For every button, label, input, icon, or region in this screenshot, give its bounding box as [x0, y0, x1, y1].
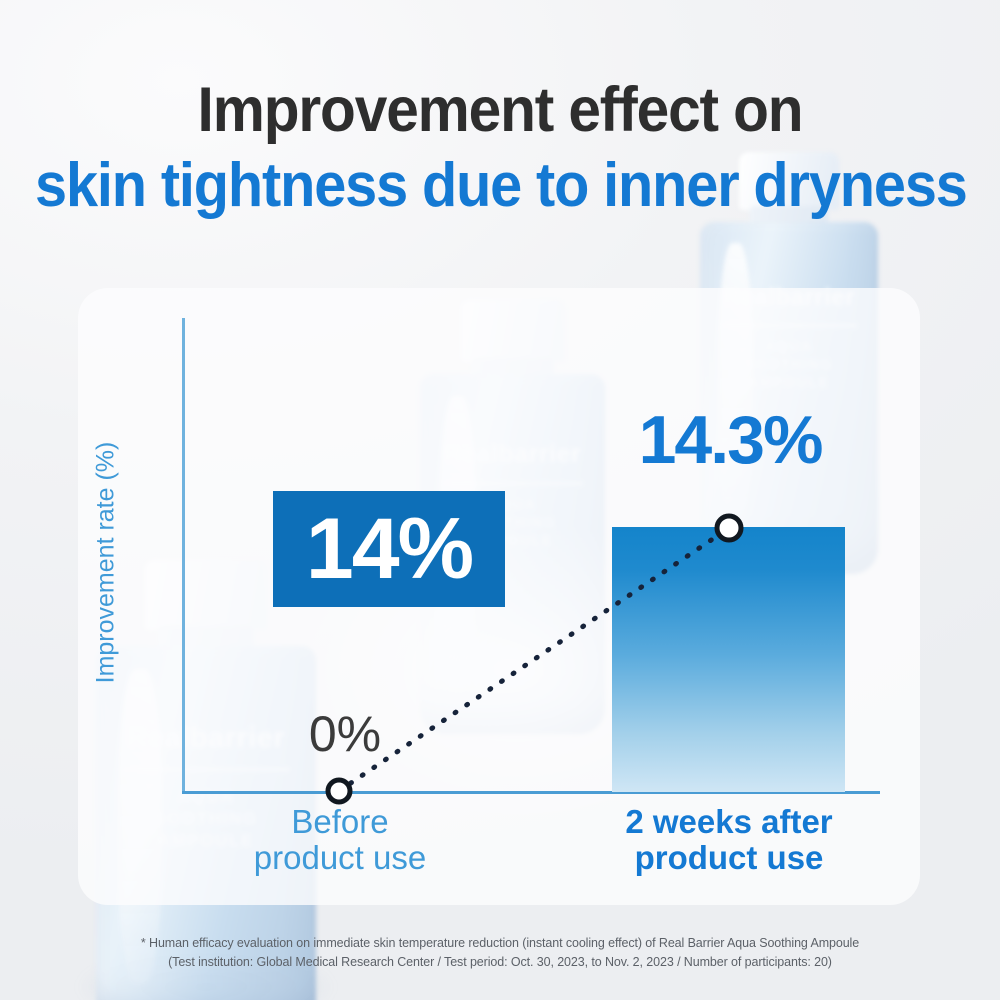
title-line-1: Improvement effect on: [35, 72, 965, 148]
marker-before-product-use[interactable]: [328, 780, 350, 802]
page-title: Improvement effect on skin tightness due…: [0, 72, 1000, 224]
x-tick-before-product-use: Before product use: [215, 804, 465, 876]
x-tick-2-weeks-after: 2 weeks after product use: [598, 804, 860, 876]
title-line-2: skin tightness due to inner dryness: [35, 148, 965, 224]
x-tick-after-line2: product use: [598, 840, 860, 876]
footnote: * Human efficacy evaluation on immediate…: [0, 934, 1000, 972]
value-label-before: 0%: [285, 708, 405, 760]
poster-canvas: Realbarrier AQUA SOOTHING AMPOULE Realba…: [0, 0, 1000, 1000]
marker-2-weeks-after[interactable]: [717, 516, 741, 540]
improvement-badge: 14%: [273, 491, 505, 607]
improvement-badge-value: 14%: [306, 506, 472, 592]
footnote-line-2: (Test institution: Global Medical Resear…: [0, 953, 1000, 972]
x-tick-after-line1: 2 weeks after: [598, 804, 860, 840]
x-tick-before-line2: product use: [215, 840, 465, 876]
footnote-line-1: * Human efficacy evaluation on immediate…: [0, 934, 1000, 953]
value-label-after: 14.3%: [600, 405, 860, 475]
x-tick-before-line1: Before: [215, 804, 465, 840]
